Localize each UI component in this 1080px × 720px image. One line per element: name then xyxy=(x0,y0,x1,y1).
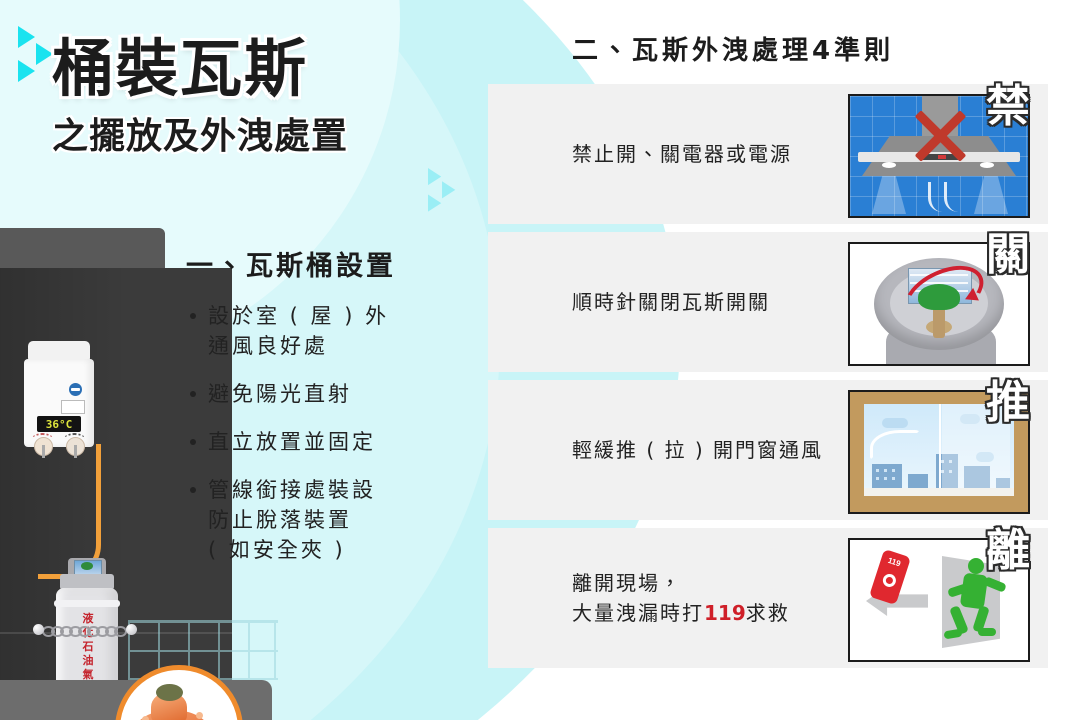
gas-water-heater: 36°C xyxy=(24,341,94,454)
rule-text-line2-prefix: 大量洩漏時打 xyxy=(572,601,704,625)
heater-spec-label xyxy=(61,400,85,414)
rule-badge-character: 推 xyxy=(986,366,1030,430)
railing-post xyxy=(274,622,276,680)
regulator-bolt xyxy=(142,716,149,720)
chain-link xyxy=(114,626,127,637)
regulator-cap xyxy=(156,684,183,701)
page-title: 桶裝瓦斯 xyxy=(52,36,472,101)
list-item: 避免陽光直射 xyxy=(186,379,486,409)
cloud-icon xyxy=(882,418,908,428)
chain-end-ball xyxy=(126,624,137,635)
runner-foot xyxy=(943,628,962,639)
list-item: 管線銜接處裝設 防止脫落裝置 ( 如安全夾 ) xyxy=(186,475,486,565)
cylinder-ring xyxy=(54,600,120,607)
rule-text-line1: 離開現場， xyxy=(572,568,852,598)
section-two-rows: 禁止開、關電器或電源 禁 順時針關閉瓦斯開關 xyxy=(488,84,1048,676)
bullet-line: ( 如安全夾 ) xyxy=(208,535,486,565)
phone-handset-icon xyxy=(881,572,897,588)
heater-temperature-display: 36°C xyxy=(37,416,81,432)
section-one-bullet-list: 設於室 ( 屋 ) 外 通風良好處 避免陽光直射 直立放置並固定 管線銜接處裝設… xyxy=(186,301,486,565)
triangle-icon xyxy=(428,168,441,185)
rule-text: 禁止開、關電器或電源 xyxy=(572,139,852,169)
bullet-line: 通風良好處 xyxy=(208,331,486,361)
railing-post xyxy=(218,622,220,680)
page-subtitle: 之擺放及外洩處置 xyxy=(52,107,472,159)
rule-text: 順時針關閉瓦斯開關 xyxy=(572,287,852,317)
rule-text: 輕緩推 ( 拉 ) 開門窗通風 xyxy=(572,435,852,465)
rule-badge-character: 禁 xyxy=(986,70,1030,134)
heater-body: 36°C xyxy=(24,359,94,447)
infographic-poster: 桶裝瓦斯 之擺放及外洩處置 36°C xyxy=(0,0,1080,720)
list-item: 直立放置並固定 xyxy=(186,427,486,457)
chain-end-ball xyxy=(33,624,44,635)
smoke-swirl xyxy=(944,182,973,212)
poster-title-block: 桶裝瓦斯 之擺放及外洩處置 xyxy=(52,36,472,159)
runner-head xyxy=(968,558,984,574)
rule-row-prohibit-electrical: 禁止開、關電器或電源 禁 xyxy=(488,84,1048,224)
rule-row-close-valve: 順時針關閉瓦斯開關 關 xyxy=(488,232,1048,372)
rule-row-evacuate: 離開現場， 大量洩漏時打119求救 119 xyxy=(488,528,1048,668)
rule-row-open-window: 輕緩推 ( 拉 ) 開門窗通風 xyxy=(488,380,1048,520)
window-divider xyxy=(939,404,941,496)
cylinder-valve-knob xyxy=(81,562,93,570)
regulator-bolt xyxy=(196,712,203,719)
bullet-line: 避免陽光直射 xyxy=(208,382,352,406)
railing-bar xyxy=(128,650,278,652)
emergency-number: 119 xyxy=(704,601,746,625)
window-sill xyxy=(864,488,1014,496)
rule-text: 離開現場， 大量洩漏時打119求救 xyxy=(572,568,852,628)
hood-lamp xyxy=(882,162,896,168)
triangle-icon xyxy=(18,26,35,48)
bullet-line: 防止脫落裝置 xyxy=(208,505,486,535)
triangle-icon xyxy=(36,43,53,65)
hood-lamp xyxy=(980,162,994,168)
cylinder-safety-chain xyxy=(42,626,138,634)
phone-number-label: 119 xyxy=(887,556,902,569)
triangle-icon xyxy=(442,181,455,198)
rule-text-line2-suffix: 求救 xyxy=(746,601,790,625)
railing-post xyxy=(248,622,250,680)
bullet-line: 設於室 ( 屋 ) 外 xyxy=(208,304,389,328)
rule-badge-character: 離 xyxy=(986,514,1030,578)
triangle-icon xyxy=(18,60,35,82)
section-one: 一、瓦斯桶設置 設於室 ( 屋 ) 外 通風良好處 避免陽光直射 直立放置並固定… xyxy=(186,244,486,583)
railing-bar xyxy=(128,620,278,623)
section-two-heading: 二、瓦斯外洩處理4準則 xyxy=(572,30,894,67)
heater-brand-logo-icon xyxy=(69,383,82,396)
triangle-icon xyxy=(428,195,441,212)
runner-foot xyxy=(978,628,996,636)
section-one-heading: 一、瓦斯桶設置 xyxy=(186,244,486,283)
red-x-prohibition-icon xyxy=(910,106,970,166)
bullet-line: 管線銜接處裝設 xyxy=(208,478,376,502)
rule-badge-character: 關 xyxy=(986,218,1030,282)
heater-temperature-value: 36°C xyxy=(46,418,73,431)
bullet-line: 直立放置並固定 xyxy=(208,430,376,454)
rule-text-line2: 大量洩漏時打119求救 xyxy=(572,598,852,628)
cylinder-label-text: 液化石油氣 xyxy=(79,612,97,682)
list-item: 設於室 ( 屋 ) 外 通風良好處 xyxy=(186,301,486,361)
runner-arm xyxy=(983,576,1007,593)
